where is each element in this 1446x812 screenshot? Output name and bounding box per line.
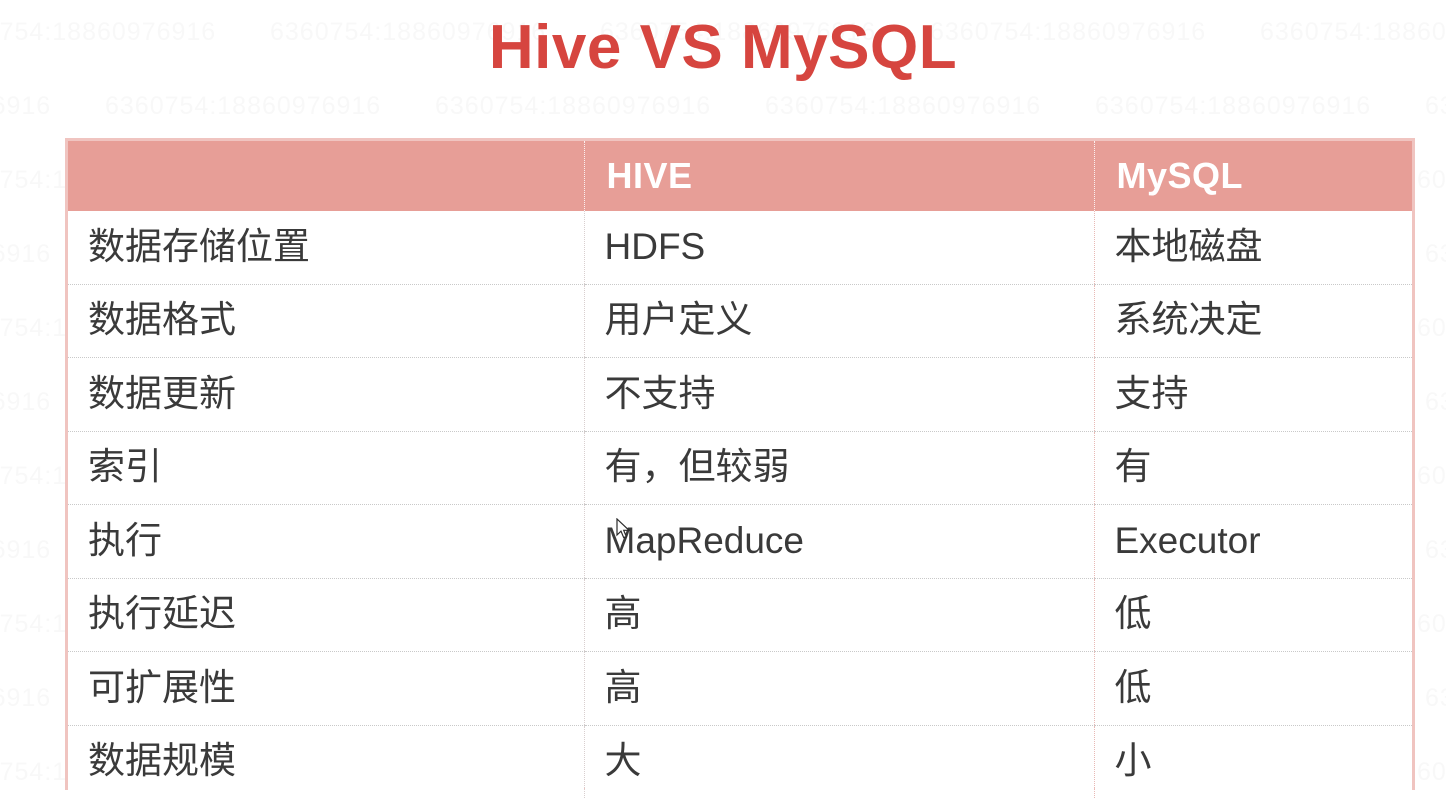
table-cell-label: 可扩展性 [68, 652, 584, 726]
watermark-text: 6360754:18860976916 [1425, 536, 1446, 565]
table-cell-hive: 有，但较弱 [584, 431, 1094, 505]
column-header-hive: HIVE [584, 141, 1094, 211]
table-cell-mysql: Executor [1094, 505, 1412, 579]
table-cell-label: 数据存储位置 [68, 211, 584, 284]
table-cell-label: 数据更新 [68, 358, 584, 432]
watermark-text: 6360754:18860976916 [0, 92, 51, 121]
table-row: 执行延迟高低 [68, 578, 1412, 652]
watermark-text: 6360754:18860976916 [0, 536, 51, 565]
watermark-text: 6360754:18860976916 [435, 92, 711, 121]
table-cell-label: 数据格式 [68, 284, 584, 358]
column-header-mysql: MySQL [1094, 141, 1412, 211]
watermark-text: 6360754:18860976916 [1095, 92, 1371, 121]
table-row: 数据格式用户定义系统决定 [68, 284, 1412, 358]
table-cell-hive: MapReduce [584, 505, 1094, 579]
table-cell-label: 数据规模 [68, 725, 584, 798]
table-cell-mysql: 支持 [1094, 358, 1412, 432]
table-cell-mysql: 系统决定 [1094, 284, 1412, 358]
table-row: 执行MapReduceExecutor [68, 505, 1412, 579]
table-cell-hive: 高 [584, 652, 1094, 726]
table-header-row: HIVE MySQL [68, 141, 1412, 211]
table-cell-hive: 用户定义 [584, 284, 1094, 358]
page-title: Hive VS MySQL [0, 14, 1446, 82]
watermark-text: 6360754:18860976916 [105, 92, 381, 121]
comparison-table: HIVE MySQL 数据存储位置HDFS本地磁盘数据格式用户定义系统决定数据更… [65, 138, 1415, 790]
table-row: 可扩展性高低 [68, 652, 1412, 726]
table-cell-mysql: 有 [1094, 431, 1412, 505]
watermark-text: 6360754:18860976916 [1425, 92, 1446, 121]
watermark-text: 6360754:18860976916 [0, 240, 51, 269]
comparison-table-element: HIVE MySQL 数据存储位置HDFS本地磁盘数据格式用户定义系统决定数据更… [68, 141, 1412, 798]
table-cell-label: 执行延迟 [68, 578, 584, 652]
table-cell-hive: 高 [584, 578, 1094, 652]
table-header: HIVE MySQL [68, 141, 1412, 211]
table-row: 索引有，但较弱有 [68, 431, 1412, 505]
table-cell-mysql: 低 [1094, 652, 1412, 726]
table-cell-mysql: 小 [1094, 725, 1412, 798]
watermark-text: 6360754:18860976916 [0, 388, 51, 417]
table-cell-hive: 不支持 [584, 358, 1094, 432]
watermark-text: 6360754:18860976916 [1425, 684, 1446, 713]
table-cell-mysql: 低 [1094, 578, 1412, 652]
table-cell-mysql: 本地磁盘 [1094, 211, 1412, 284]
table-row: 数据更新不支持支持 [68, 358, 1412, 432]
watermark-text: 6360754:18860976916 [1425, 388, 1446, 417]
table-cell-label: 执行 [68, 505, 584, 579]
table-cell-label: 索引 [68, 431, 584, 505]
table-body: 数据存储位置HDFS本地磁盘数据格式用户定义系统决定数据更新不支持支持索引有，但… [68, 211, 1412, 798]
watermark-text: 6360754:18860976916 [1425, 240, 1446, 269]
column-header-blank [68, 141, 584, 211]
table-cell-hive: 大 [584, 725, 1094, 798]
watermark-text: 6360754:18860976916 [765, 92, 1041, 121]
table-row: 数据存储位置HDFS本地磁盘 [68, 211, 1412, 284]
table-cell-hive: HDFS [584, 211, 1094, 284]
watermark-text: 6360754:18860976916 [0, 684, 51, 713]
table-row: 数据规模大小 [68, 725, 1412, 798]
